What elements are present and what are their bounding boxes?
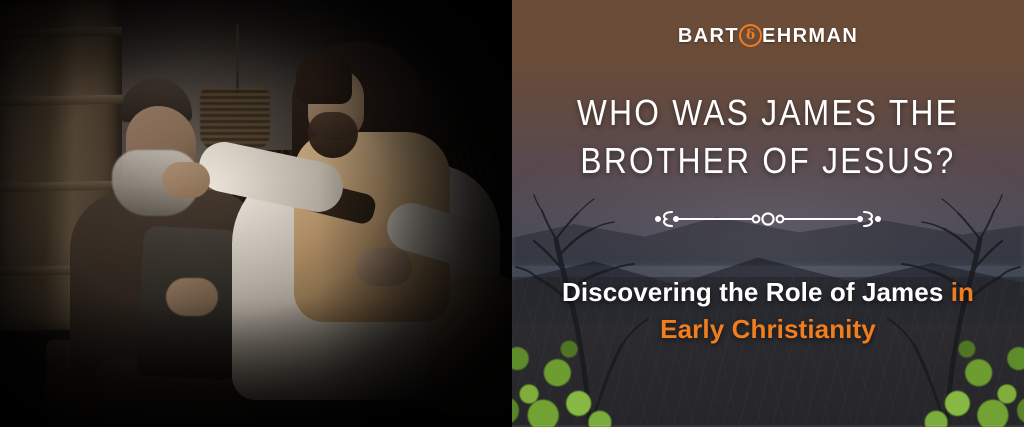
page-title: WHO WAS JAMES THE BROTHER OF JESUS? bbox=[557, 89, 979, 184]
article-banner: BART δ EHRMAN WHO WAS JAMES THE BROTHER … bbox=[0, 0, 1024, 427]
ornamental-divider bbox=[652, 204, 884, 234]
logo-first-word: BART bbox=[678, 26, 739, 46]
monogram-glyph: δ bbox=[746, 28, 755, 42]
page-subtitle: Discovering the Role of James in Early C… bbox=[548, 274, 988, 348]
logo-last-word: EHRMAN bbox=[762, 26, 858, 46]
banner-text-panel: BART δ EHRMAN WHO WAS JAMES THE BROTHER … bbox=[512, 0, 1024, 427]
bart-ehrman-monogram-icon: δ bbox=[739, 24, 762, 47]
subtitle-plain: Discovering the Role of James bbox=[562, 277, 951, 307]
robed-figure bbox=[236, 36, 512, 396]
banner-photo bbox=[0, 0, 512, 427]
bart-ehrman-logo[interactable]: BART δ EHRMAN bbox=[678, 24, 858, 47]
